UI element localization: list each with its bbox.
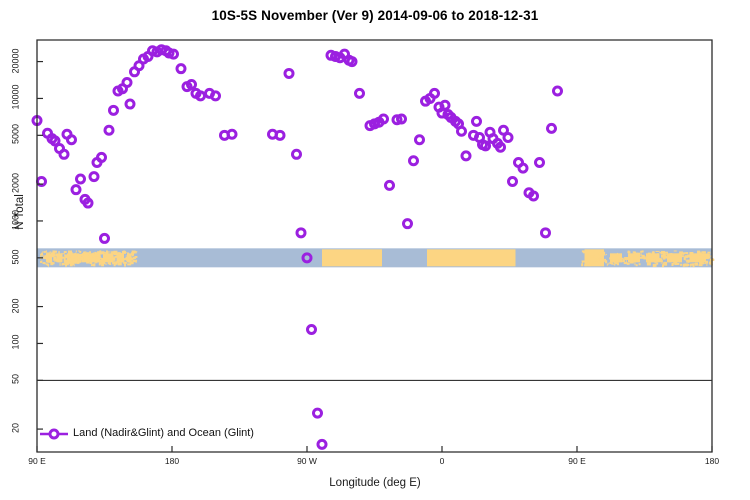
data-point: [416, 136, 424, 144]
y-tick-label: 50: [11, 364, 21, 395]
data-point: [410, 157, 418, 165]
data-point: [431, 89, 439, 97]
x-tick-label: 90 E: [547, 456, 607, 466]
data-point: [285, 69, 293, 77]
data-point: [228, 130, 236, 138]
y-tick-label: 100: [11, 327, 21, 358]
data-point: [105, 126, 113, 134]
data-point: [123, 78, 131, 86]
data-point: [68, 136, 76, 144]
data-point: [212, 92, 220, 100]
data-point: [542, 229, 550, 237]
data-point: [530, 192, 538, 200]
data-point: [297, 229, 305, 237]
data-point-group: [33, 46, 562, 449]
data-point: [90, 173, 98, 181]
data-point: [276, 131, 284, 139]
y-tick-label: 500: [11, 241, 21, 272]
data-point: [536, 159, 544, 167]
data-point: [308, 325, 316, 333]
data-point: [318, 440, 326, 448]
legend-entry-label: Land (Nadir&Glint) and Ocean (Glint): [73, 427, 254, 439]
data-point: [101, 234, 109, 242]
plot-frame: [37, 40, 712, 452]
scatter-plot-area: [0, 0, 750, 500]
y-tick-label: 20: [11, 413, 21, 444]
y-tick-label: 5000: [11, 119, 21, 150]
data-point: [509, 177, 517, 185]
data-point: [293, 150, 301, 158]
data-point: [458, 127, 466, 135]
data-point: [98, 153, 106, 161]
data-point: [404, 220, 412, 228]
data-point: [380, 115, 388, 123]
x-tick-label: 90 W: [277, 456, 337, 466]
data-point: [554, 87, 562, 95]
y-tick-label: 20000: [11, 45, 21, 76]
data-point: [60, 150, 68, 158]
x-tick-label: 180: [682, 456, 742, 466]
geographic-map-band: [37, 248, 714, 267]
data-point: [386, 181, 394, 189]
y-tick-label: 2000: [11, 168, 21, 199]
data-point: [441, 101, 449, 109]
data-point: [473, 117, 481, 125]
data-point: [72, 186, 80, 194]
y-tick-label: 200: [11, 290, 21, 321]
x-axis-label: Longitude (deg E): [0, 477, 750, 489]
data-point: [519, 164, 527, 172]
data-point: [548, 124, 556, 132]
data-point: [462, 152, 470, 160]
x-tick-label: 0: [412, 456, 472, 466]
data-point: [177, 65, 185, 73]
data-point: [314, 409, 322, 417]
data-point: [504, 133, 512, 141]
data-point: [356, 89, 364, 97]
data-point: [126, 100, 134, 108]
figure-canvas: 10S-5S November (Ver 9) 2014-09-06 to 20…: [0, 0, 750, 500]
x-tick-label: 180: [142, 456, 202, 466]
y-tick-label: 10000: [11, 82, 21, 113]
y-tick-label: 1000: [11, 204, 21, 235]
data-point: [110, 106, 118, 114]
legend-marker: [40, 430, 68, 438]
data-point: [77, 175, 85, 183]
x-tick-label: 90 E: [7, 456, 67, 466]
